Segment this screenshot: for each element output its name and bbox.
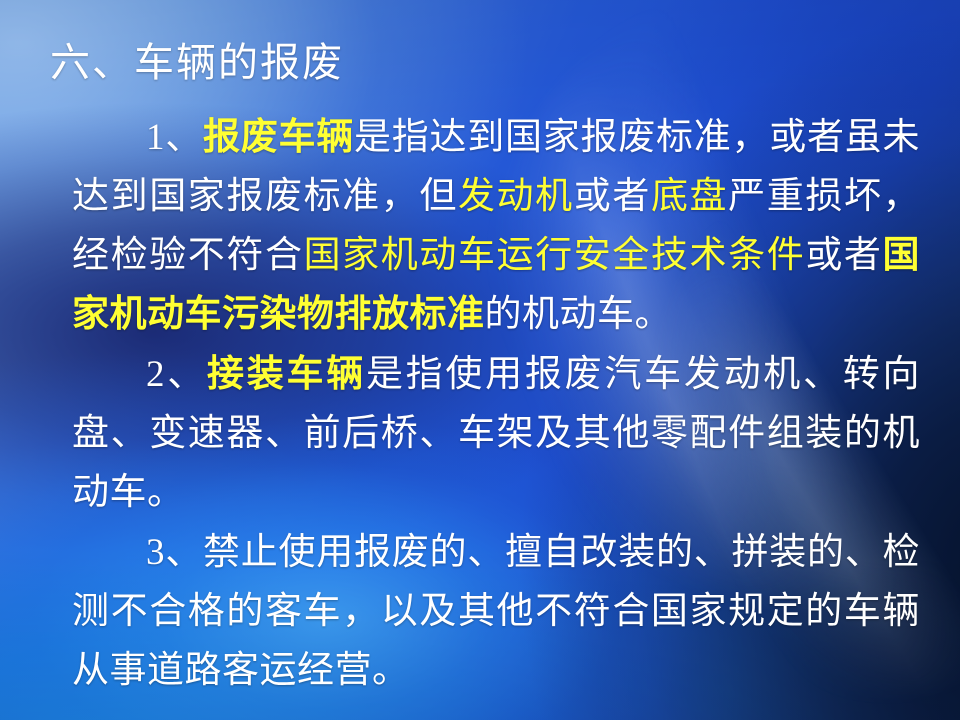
highlighted-text-run: 发动机 <box>458 176 574 217</box>
paragraph-1: 1、报废车辆是指达到国家报废标准，或者虽未达到国家报废标准，但发动机或者底盘严重… <box>72 108 920 344</box>
slide-body: 1、报废车辆是指达到国家报废标准，或者虽未达到国家报废标准，但发动机或者底盘严重… <box>72 108 920 700</box>
slide-title: 六、车辆的报废 <box>50 40 344 86</box>
paragraph-number: 3、 <box>146 532 203 573</box>
highlighted-text-run: 接装车辆 <box>207 354 366 395</box>
highlighted-text-run: 国家机动车运行安全技术条件 <box>304 235 806 276</box>
text-run: 或者 <box>574 176 651 217</box>
paragraph-number: 2、 <box>146 354 207 395</box>
paragraph-2: 2、接装车辆是指使用报废汽车发动机、转向盘、变速器、前后桥、车架及其他零配件组装… <box>72 345 920 522</box>
text-run: 的机动车。 <box>485 294 673 335</box>
paragraph-3: 3、禁止使用报废的、擅自改装的、拼装的、检测不合格的客车，以及其他不符合国家规定… <box>72 523 920 700</box>
highlighted-text-run: 底盘 <box>651 176 728 217</box>
slide-content: 六、车辆的报废 1、报废车辆是指达到国家报废标准，或者虽未达到国家报废标准，但发… <box>0 0 960 720</box>
presentation-slide: 六、车辆的报废 1、报废车辆是指达到国家报废标准，或者虽未达到国家报废标准，但发… <box>0 0 960 720</box>
paragraph-number: 1、 <box>146 117 203 158</box>
highlighted-text-run: 报废车辆 <box>203 117 354 158</box>
text-run: 或者 <box>805 235 882 276</box>
